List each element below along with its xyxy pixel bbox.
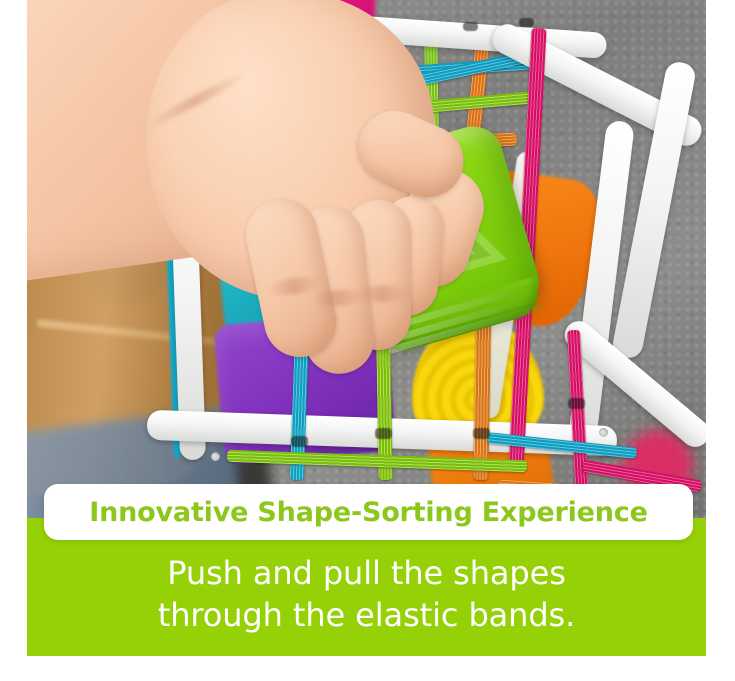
product-feature-card: Innovative Shape-Sorting Experience Push… (0, 0, 735, 681)
child-hand (27, 0, 706, 519)
photo-composition (27, 0, 706, 519)
subtext-line-1: Push and pull the shapes (167, 554, 566, 592)
product-photo (27, 0, 706, 519)
subtext-line-2: through the elastic bands. (27, 594, 706, 636)
right-margin (706, 0, 735, 681)
left-margin (0, 0, 27, 681)
knuckle-crease (355, 286, 409, 302)
subtext-block: Push and pull the shapes through the ela… (27, 552, 706, 636)
bottom-margin (0, 656, 735, 681)
headline-text: Innovative Shape-Sorting Experience (89, 497, 647, 528)
headline-badge: Innovative Shape-Sorting Experience (44, 484, 693, 540)
